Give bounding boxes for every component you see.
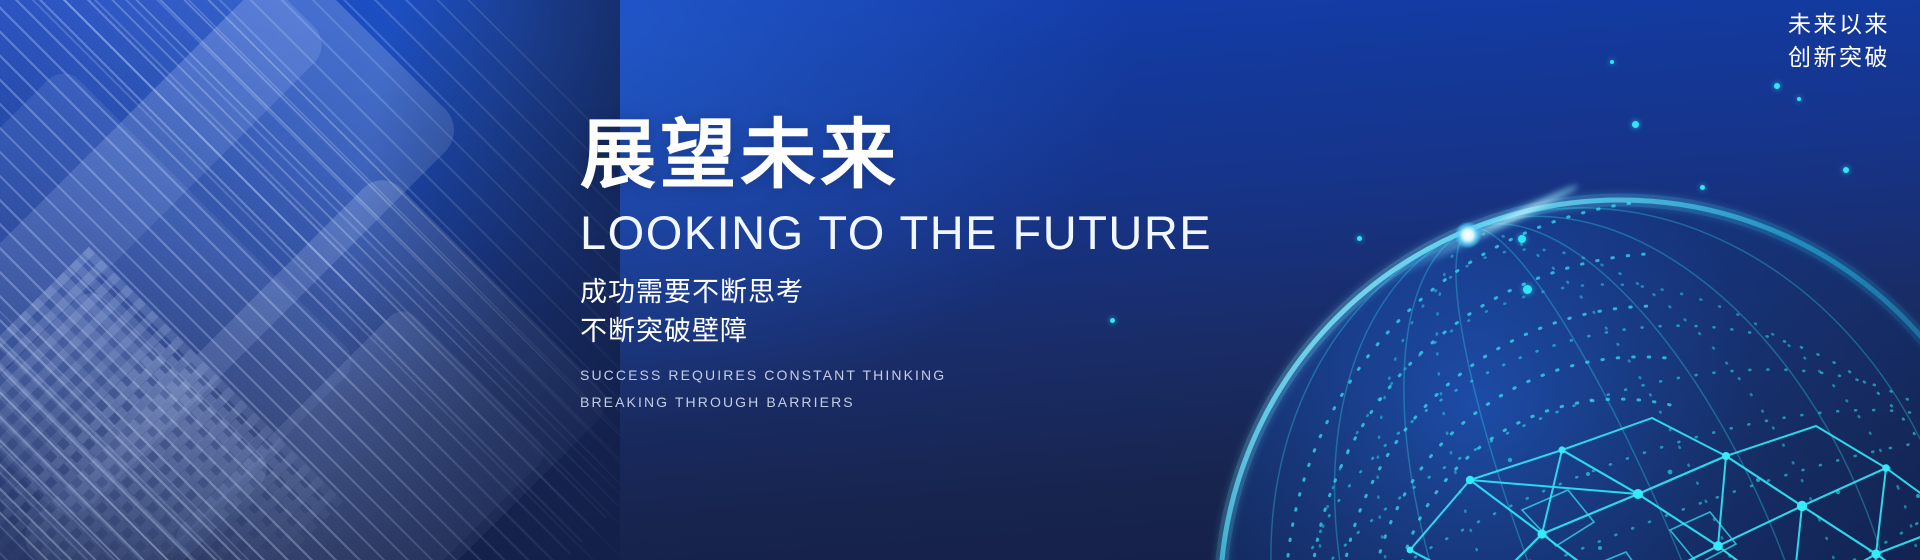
tagline-en-line-2: BREAKING THROUGH BARRIERS: [580, 389, 1280, 416]
floating-dot: [1632, 121, 1639, 128]
diagonal-slab: [0, 285, 275, 560]
floating-dot: [1843, 167, 1849, 173]
floating-dot: [1797, 97, 1801, 101]
diagonal-stripe-lines: [0, 0, 620, 560]
diagonal-dot-pattern: [0, 336, 364, 560]
corner-slogan: 未来以来 创新突破: [1788, 8, 1890, 75]
wireframe-network-globe: [1170, 150, 1920, 560]
corner-slogan-line-1: 未来以来: [1788, 8, 1890, 41]
light-flare-streak: [1368, 178, 1582, 293]
left-geometric-artwork: [0, 0, 620, 560]
page-subtitle-en: LOOKING TO THE FUTURE: [580, 208, 1280, 257]
floating-dot: [1357, 236, 1362, 241]
diagonal-dot-pattern: [0, 247, 343, 560]
floating-dot: [1700, 185, 1705, 190]
floating-dot: [1610, 60, 1614, 64]
floating-dot: [1518, 235, 1526, 243]
tagline-en-line-1: SUCCESS REQUIRES CONSTANT THINKING: [580, 362, 1280, 389]
tagline-cn-line-2: 不断突破壁障: [580, 312, 1280, 350]
diagonal-stripe-lines: [0, 80, 336, 560]
diagonal-slab: [0, 0, 332, 377]
diagonal-slab: [0, 64, 361, 560]
floating-dot: [1523, 285, 1532, 294]
page-title: 展望未来: [580, 118, 1280, 194]
diagonal-stripe-lines: [0, 0, 620, 560]
diagonal-slab: [0, 0, 466, 526]
tagline-cn-line-1: 成功需要不断思考: [580, 273, 1280, 311]
floating-dot: [1774, 83, 1780, 89]
corner-slogan-line-2: 创新突破: [1788, 41, 1890, 74]
tagline-en: SUCCESS REQUIRES CONSTANT THINKING BREAK…: [580, 362, 1280, 417]
diagonal-slab: [169, 304, 551, 560]
light-flare: [1455, 222, 1481, 248]
hero-banner: 未来以来 创新突破 展望未来 LOOKING TO THE FUTURE 成功需…: [0, 0, 1920, 560]
headline-block: 展望未来 LOOKING TO THE FUTURE 成功需要不断思考 不断突破…: [580, 118, 1280, 417]
left-art-fade: [0, 0, 620, 560]
tagline-cn: 成功需要不断思考 不断突破壁障: [580, 273, 1280, 350]
diagonal-slab: [14, 169, 615, 560]
